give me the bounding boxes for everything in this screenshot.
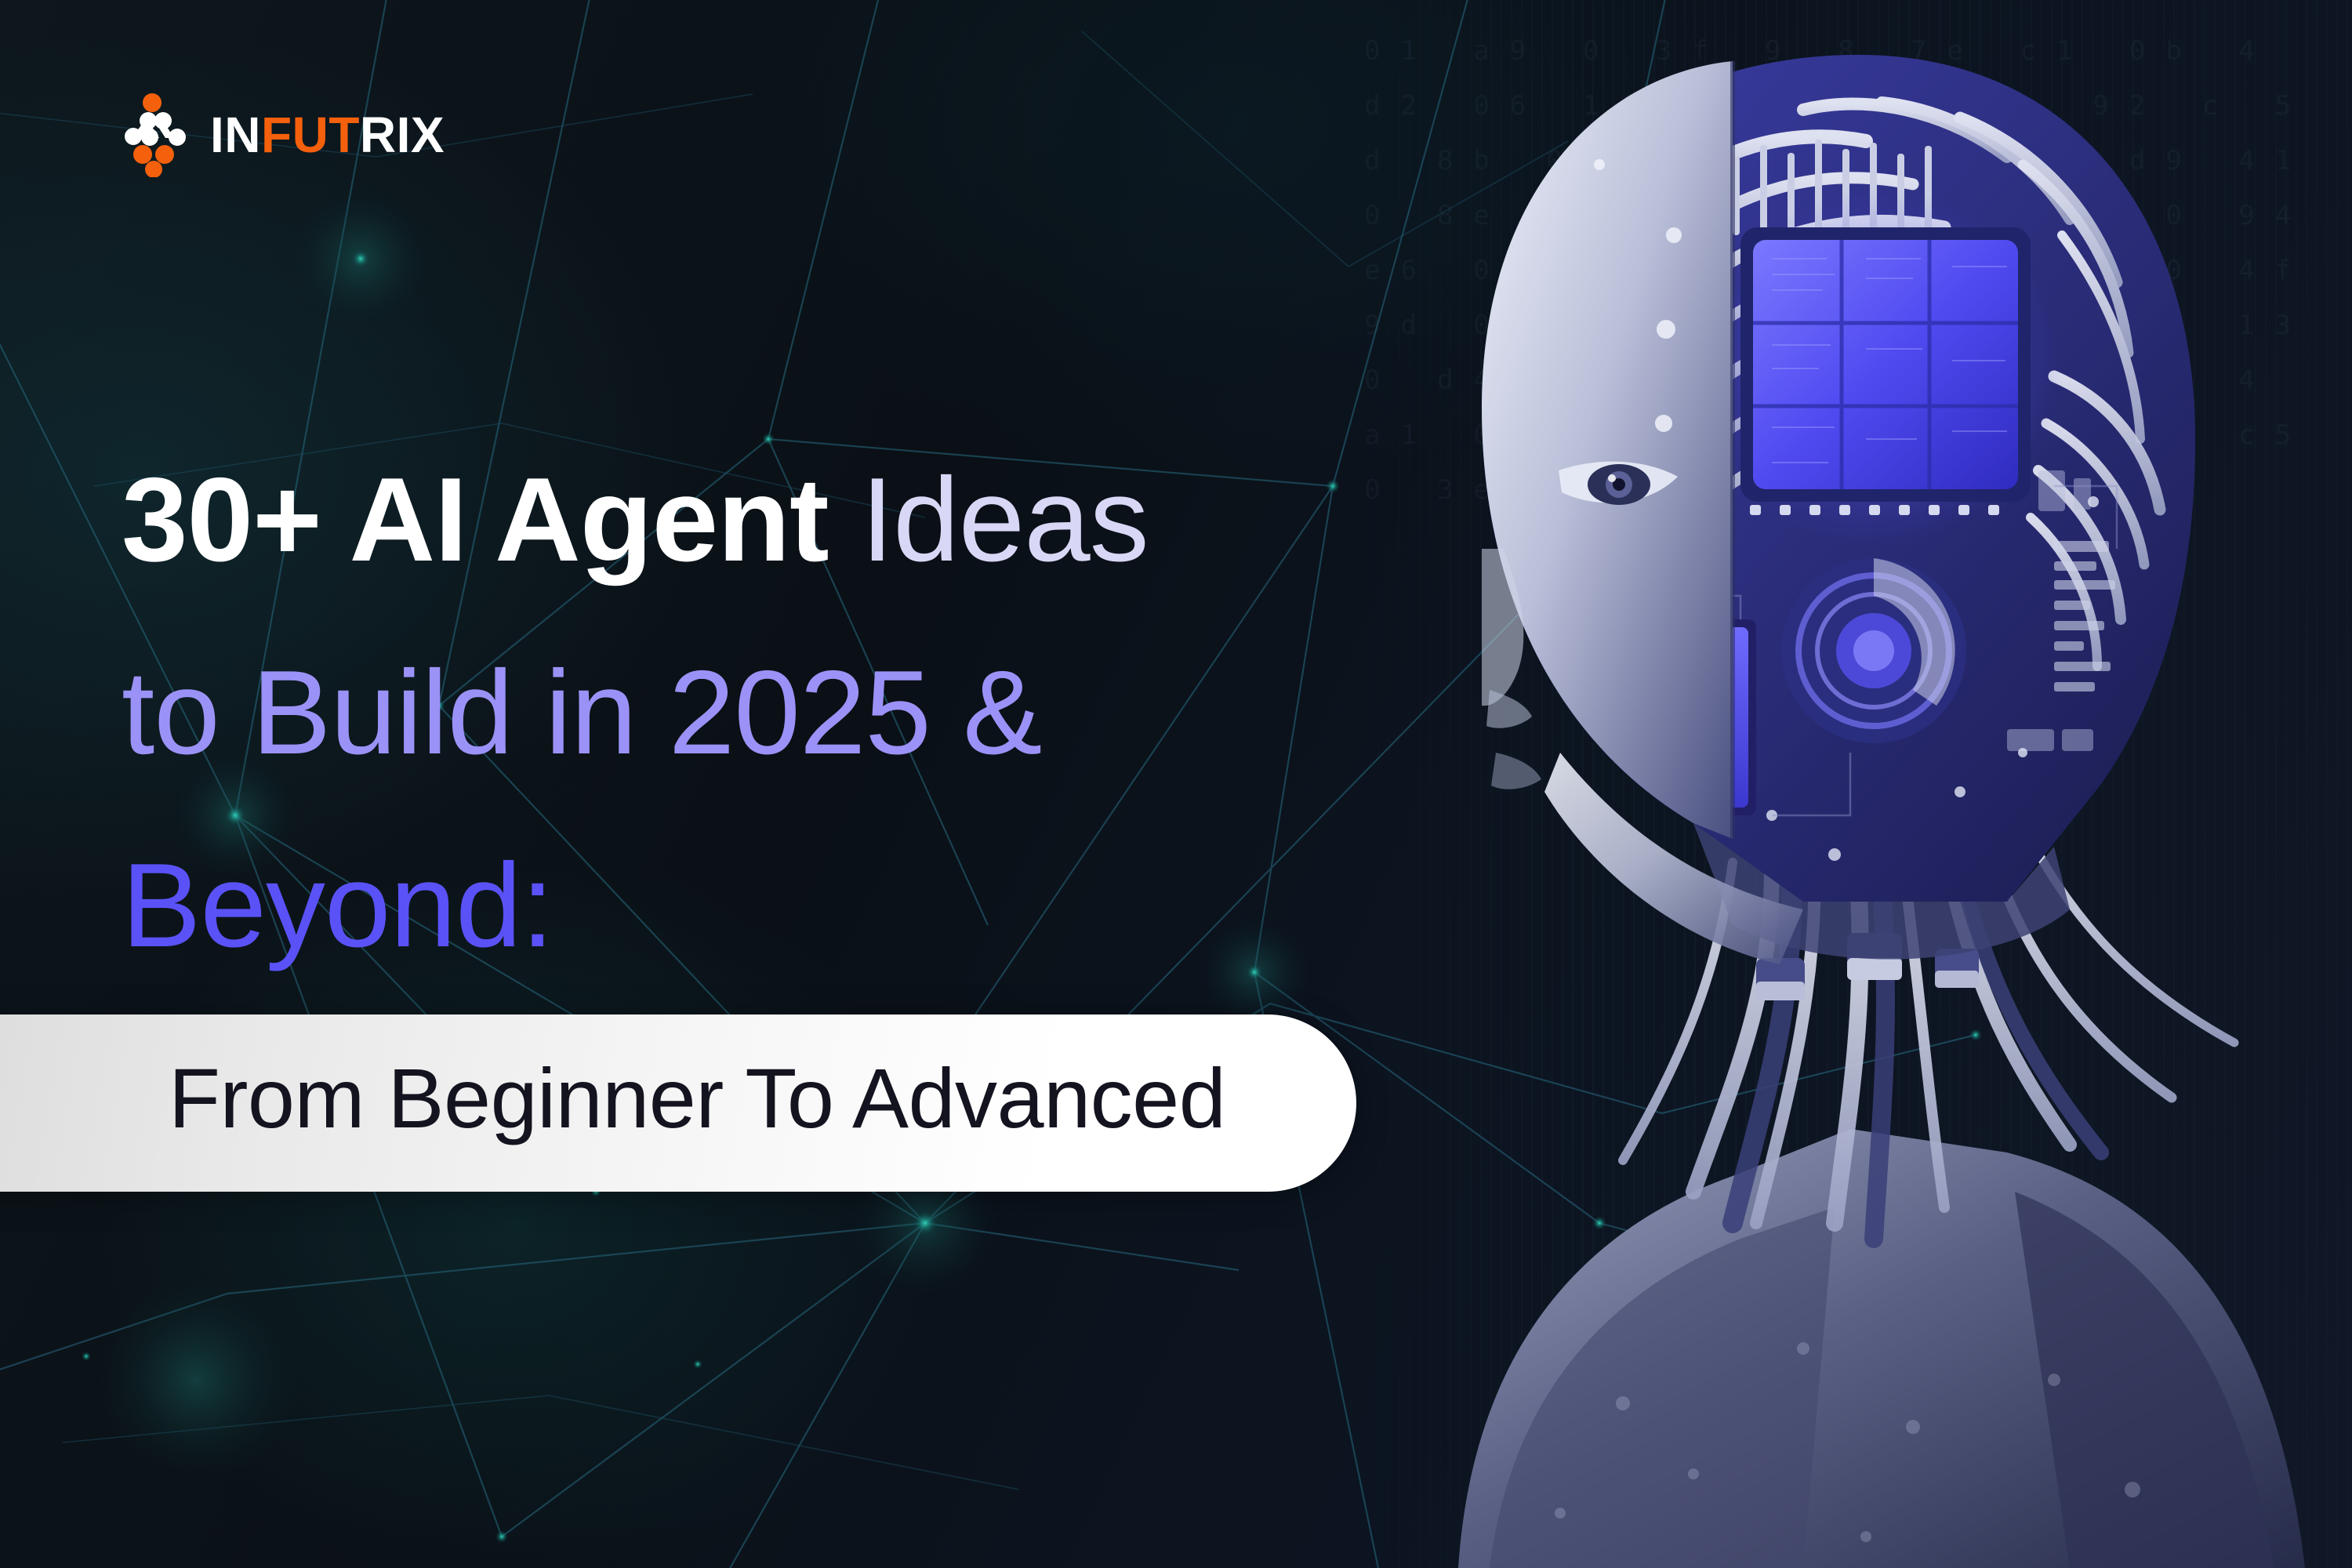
brand-wordmark: INFUTRIX (210, 110, 445, 160)
wordmark-fut: FUT (261, 107, 360, 163)
headline-strong-text: 30+ AI Agent (122, 453, 829, 586)
robot-illustration (1364, 0, 2352, 1568)
headline-block: 30+ AI Agent Ideas to Build in 2025 & Be… (122, 423, 1454, 1002)
subtitle-pill-label: From Beginner To Advanced (169, 1049, 1225, 1147)
wordmark-in: IN (210, 107, 261, 163)
wordmark-rix: RIX (360, 107, 445, 163)
headline-line-3: Beyond: (122, 809, 1454, 1002)
headline-ideas-text: Ideas (829, 453, 1149, 586)
infutrix-molecule-logo-icon (124, 93, 188, 177)
banner-root: 01 a9 0 3f 9 8 7e c1 0b 4 d2 06 1f b7 3 … (0, 0, 2352, 1568)
headline-line-2: to Build in 2025 & (122, 616, 1454, 809)
brand-logo[interactable]: INFUTRIX (124, 93, 445, 177)
headline-line-1: 30+ AI Agent Ideas (122, 423, 1454, 616)
